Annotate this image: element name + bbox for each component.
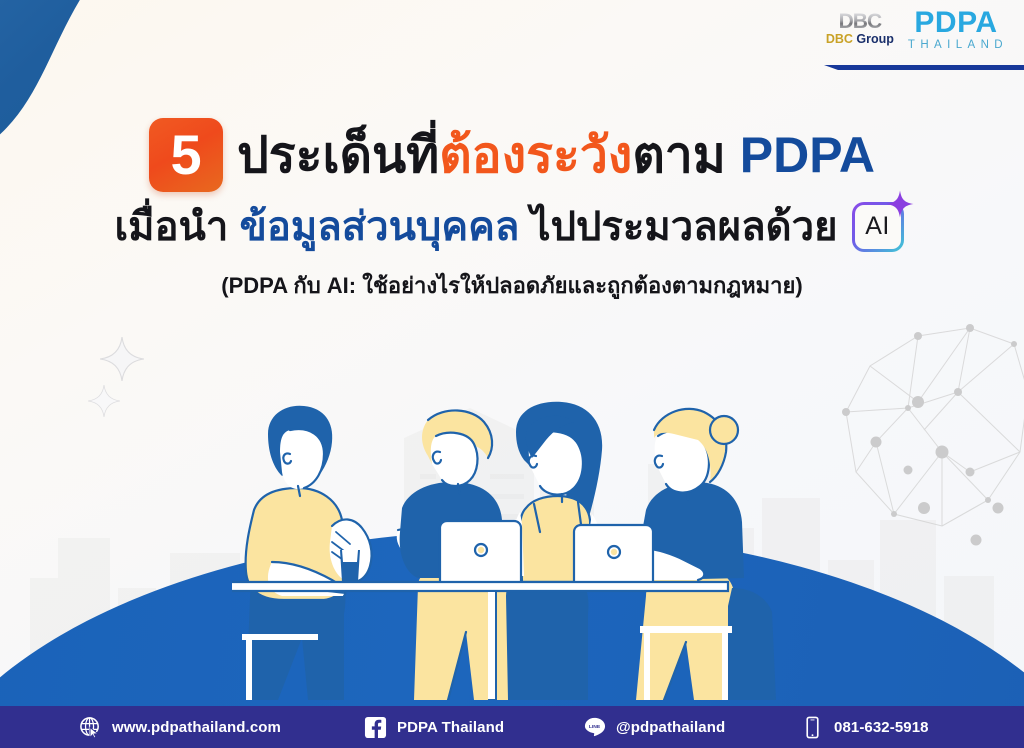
dbc-group-logo: DBC DBC Group bbox=[826, 8, 894, 47]
phone-icon bbox=[800, 715, 824, 739]
globe-icon bbox=[78, 715, 102, 739]
headline-line-1: 5 ประเด็นที่ต้องระวังตาม PDPA bbox=[0, 118, 1024, 192]
headline-text-black-a: ประเด็นที่ bbox=[237, 127, 439, 183]
pdpa-logo-main: PDPA bbox=[904, 8, 1008, 38]
dbc-group-name: DBC Group bbox=[826, 33, 894, 47]
headline2-text-blue: ข้อมูลส่วนบุคคล bbox=[239, 205, 519, 249]
headline-line-2: เมื่อนำ ข้อมูลส่วนบุคคล ไปประมวลผลด้วย A… bbox=[0, 202, 1024, 252]
facebook-icon bbox=[363, 715, 387, 739]
headline-text-pdpa: PDPA bbox=[740, 127, 875, 183]
footer-item-website[interactable]: www.pdpathailand.com bbox=[78, 715, 281, 739]
ai-sparkle-icon bbox=[885, 189, 915, 219]
headline-line-1-text: ประเด็นที่ต้องระวังตาม PDPA bbox=[237, 129, 875, 182]
headline2-text-black-a: เมื่อนำ bbox=[114, 205, 239, 249]
footer-website-label: www.pdpathailand.com bbox=[112, 719, 281, 736]
logo-underline-rule bbox=[824, 64, 1024, 72]
number-badge-5: 5 bbox=[149, 118, 223, 192]
meeting-illustration: .ib { fill:#1f63ab; } .iy { fill:#fbe4a0… bbox=[232, 400, 792, 700]
svg-text:LINE: LINE bbox=[588, 724, 600, 730]
headline-line-2-text: เมื่อนำ ข้อมูลส่วนบุคคล ไปประมวลผลด้วย bbox=[114, 205, 837, 249]
footer-phone-label: 081-632-5918 bbox=[834, 719, 929, 736]
headline-text-black-b: ตาม bbox=[632, 127, 739, 183]
footer-line-label: @pdpathailand bbox=[616, 719, 725, 736]
laptop-left bbox=[440, 521, 521, 582]
line-icon: LINE bbox=[582, 715, 606, 739]
headline2-text-black-b: ไปประมวลผลด้วย bbox=[519, 205, 837, 249]
dbc-name-gold: DBC bbox=[826, 32, 853, 46]
laptop-right bbox=[574, 525, 653, 582]
ai-brain-network-icon bbox=[838, 322, 1024, 572]
coffee-cup bbox=[340, 550, 360, 582]
ai-badge: AI bbox=[852, 202, 904, 252]
dbc-mark-text: DBC bbox=[826, 11, 894, 32]
contact-footer-bar: www.pdpathailand.com PDPA Thailand LINE … bbox=[0, 706, 1024, 748]
headline-block: 5 ประเด็นที่ต้องระวังตาม PDPA เมื่อนำ ข้… bbox=[0, 118, 1024, 303]
footer-facebook-label: PDPA Thailand bbox=[397, 719, 504, 736]
poster-canvas: DBC DBC Group PDPA THAILAND 5 ประเด็นที่… bbox=[0, 0, 1024, 748]
footer-item-line[interactable]: LINE @pdpathailand bbox=[582, 715, 725, 739]
sparkle-icon-large bbox=[100, 337, 144, 381]
pdpa-logo-sub: THAILAND bbox=[908, 38, 1008, 53]
sparkle-icon-small bbox=[88, 385, 120, 417]
footer-item-facebook[interactable]: PDPA Thailand bbox=[363, 715, 504, 739]
headline-text-orange: ต้องระวัง bbox=[439, 127, 632, 183]
headline-subtitle: (PDPA กับ AI: ใช้อย่างไรให้ปลอดภัยและถูก… bbox=[0, 268, 1024, 303]
pdpa-thailand-logo: PDPA THAILAND bbox=[904, 8, 1008, 53]
footer-item-phone[interactable]: 081-632-5918 bbox=[800, 715, 929, 739]
dbc-name-navy: Group bbox=[853, 32, 894, 46]
